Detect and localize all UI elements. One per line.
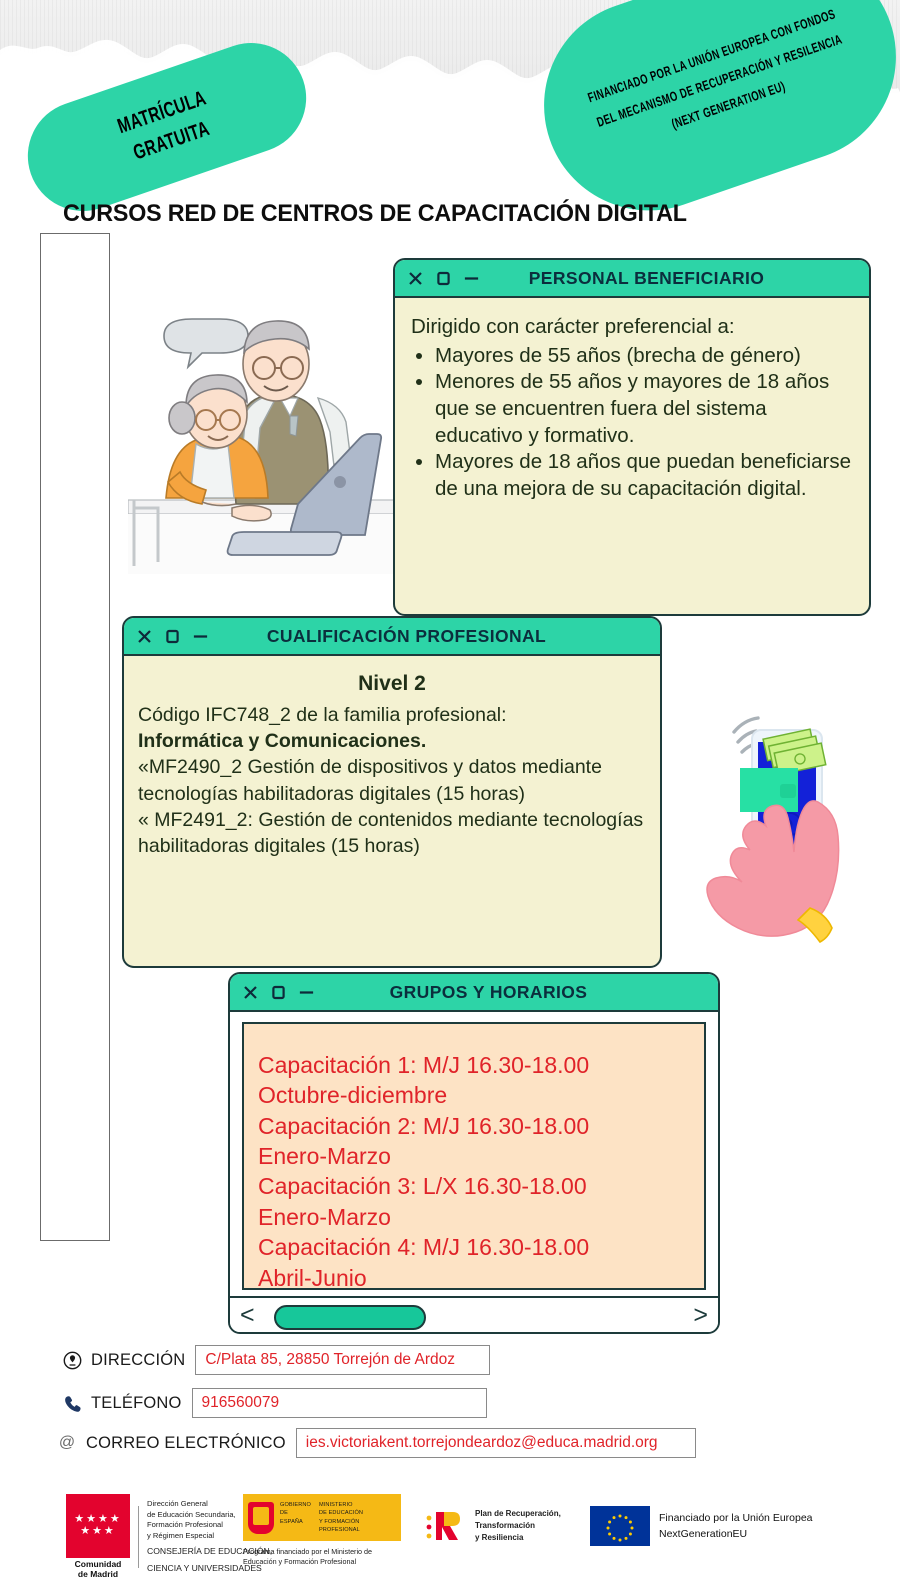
madrid-stars-icon: ★★★★★★★ <box>66 1494 130 1558</box>
window-personal-beneficiario: PERSONAL BENEFICIARIO Dirigido con carác… <box>393 258 871 616</box>
schedule-line: Enero-Marzo <box>258 1202 690 1232</box>
window-content: Dirigido con carácter preferencial a: Ma… <box>395 298 869 512</box>
schedule-line: Enero-Marzo <box>258 1141 690 1171</box>
logo-comunidad-de-madrid: ★★★★★★★ Comunidad de Madrid Dirección Ge… <box>66 1494 272 1580</box>
beneficiario-lead: Dirigido con carácter preferencial a: <box>411 314 855 341</box>
contact-row-telefono: TELÉFONO 916560079 <box>60 1388 487 1418</box>
prtr-line-1: Plan de Recuperación, <box>475 1508 561 1520</box>
window-controls <box>136 628 209 645</box>
schedule-line: Octubre-diciembre <box>258 1080 690 1110</box>
window-controls <box>242 984 315 1001</box>
window-content: Capacitación 1: M/J 16.30-18.00 Octubre-… <box>230 1012 718 1290</box>
contact-row-direccion: DIRECCIÓN C/Plata 85, 28850 Torrejón de … <box>60 1345 490 1375</box>
window-titlebar: CUALIFICACIÓN PROFESIONAL <box>124 618 660 656</box>
window-grupos-horarios: GRUPOS Y HORARIOS Capacitación 1: M/J 16… <box>228 972 720 1334</box>
gobierno-text-columns: GOBIERNO DE ESPAÑA MINISTERIO DE EDUCACI… <box>280 1501 396 1533</box>
cualificacion-nivel: Nivel 2 <box>138 670 646 698</box>
page-title: CURSOS RED DE CENTROS DE CAPACITACIÓN DI… <box>63 200 785 228</box>
contact-label-email: CORREO ELECTRÓNICO <box>86 1434 286 1453</box>
prtr-line-3: y Resiliencia <box>475 1532 561 1544</box>
ministerio-line-2: DE EDUCACIÓN <box>319 1509 396 1517</box>
logo-plan-recuperacion: Plan de Recuperación, Transformación y R… <box>424 1508 561 1544</box>
contact-value-telefono: 916560079 <box>192 1388 487 1418</box>
logo-union-europea: Financiado por la Unión Europea NextGene… <box>590 1506 813 1546</box>
prtr-mark-icon <box>424 1509 468 1543</box>
hand-phone-wallet-illustration <box>672 672 890 972</box>
cualificacion-codigo: Código IFC748_2 de la familia profesiona… <box>138 702 646 728</box>
maximize-icon[interactable] <box>270 984 287 1001</box>
minimize-icon[interactable] <box>298 984 315 1001</box>
contact-row-email: @ CORREO ELECTRÓNICO ies.victoriakent.to… <box>55 1428 696 1458</box>
scroll-left-arrow[interactable]: < <box>240 1303 255 1328</box>
grupos-schedule-pane: Capacitación 1: M/J 16.30-18.00 Octubre-… <box>242 1022 706 1290</box>
schedule-line: Capacitación 3: L/X 16.30-18.00 <box>258 1171 690 1201</box>
contact-value-email: ies.victoriakent.torrejondeardoz@educa.m… <box>296 1428 696 1458</box>
minimize-icon[interactable] <box>463 270 480 287</box>
scrollbar-thumb[interactable] <box>274 1305 426 1330</box>
schedule-line: Capacitación 2: M/J 16.30-18.00 <box>258 1111 690 1141</box>
footer-logos: ★★★★★★★ Comunidad de Madrid Dirección Ge… <box>0 1482 900 1585</box>
list-item: Mayores de 55 años (brecha de género) <box>435 343 855 370</box>
madrid-emblem: ★★★★★★★ Comunidad de Madrid <box>66 1494 130 1580</box>
contact-value-direccion: C/Plata 85, 28850 Torrejón de Ardoz <box>195 1345 490 1375</box>
cualificacion-modulo: « MF2491_2: Gestión de contenidos median… <box>138 807 646 859</box>
madrid-flag-icon: ★★★★★★★ <box>66 1494 130 1558</box>
contact-label-telefono: TELÉFONO <box>91 1394 182 1413</box>
maximize-icon[interactable] <box>435 270 452 287</box>
gobierno-caption: Programa financiado por el Ministerio de… <box>243 1547 411 1567</box>
gobierno-bar: GOBIERNO DE ESPAÑA MINISTERIO DE EDUCACI… <box>243 1494 401 1541</box>
poster-root: MATRÍCULA GRATUITA FINANCIADO POR LA UNI… <box>0 0 900 1585</box>
beneficiario-list: Mayores de 55 años (brecha de género) Me… <box>409 343 855 503</box>
window-controls <box>407 270 480 287</box>
gobierno-text: GOBIERNO DE ESPAÑA <box>280 1501 311 1533</box>
madrid-brand: Comunidad de Madrid <box>75 1560 122 1580</box>
window-title: GRUPOS Y HORARIOS <box>315 982 706 1003</box>
schedule-line: Capacitación 1: M/J 16.30-18.00 <box>258 1050 690 1080</box>
window-title: PERSONAL BENEFICIARIO <box>480 268 857 289</box>
spain-coat-of-arms-icon <box>248 1502 274 1534</box>
scroll-right-arrow[interactable]: > <box>693 1303 708 1328</box>
schedule-line: Abril-Junio <box>258 1263 690 1293</box>
window-cualificacion-profesional: CUALIFICACIÓN PROFESIONAL Nivel 2 Código… <box>122 616 662 968</box>
minimize-icon[interactable] <box>192 628 209 645</box>
eu-line-2: NextGenerationEU <box>659 1526 813 1542</box>
ministerio-line-1: MINISTERIO <box>319 1501 396 1509</box>
elderly-couple-laptop-illustration <box>128 286 413 608</box>
cualificacion-familia: Informática y Comunicaciones. <box>138 728 646 754</box>
window-content: Nivel 2 Código IFC748_2 de la familia pr… <box>124 656 660 869</box>
window-titlebar: PERSONAL BENEFICIARIO <box>395 260 869 298</box>
cualificacion-modulo: «MF2490_2 Gestión de dispositivos y dato… <box>138 754 646 806</box>
ministerio-line-3: Y FORMACIÓN PROFESIONAL <box>319 1518 396 1534</box>
window-titlebar: GRUPOS Y HORARIOS <box>230 974 718 1012</box>
close-icon[interactable] <box>136 628 153 645</box>
contact-label-direccion: DIRECCIÓN <box>91 1351 185 1370</box>
eu-flag-icon <box>590 1506 650 1546</box>
school-name-box <box>40 233 110 1241</box>
gobierno-caption-line-2: Educación y Formación Profesional <box>243 1557 411 1567</box>
madrid-brand-line-2: de Madrid <box>75 1570 122 1580</box>
window-title: CUALIFICACIÓN PROFESIONAL <box>209 626 648 647</box>
list-item: Menores de 55 años y mayores de 18 años … <box>435 369 855 449</box>
ministerio-text: MINISTERIO DE EDUCACIÓN Y FORMACIÓN PROF… <box>319 1501 396 1533</box>
schedule-line: Capacitación 4: M/J 16.30-18.00 <box>258 1232 690 1262</box>
close-icon[interactable] <box>407 270 424 287</box>
eu-text: Financiado por la Unión Europea NextGene… <box>659 1510 813 1543</box>
at-sign-icon: @ <box>55 1434 79 1452</box>
phone-icon <box>60 1394 84 1413</box>
logo-divider <box>138 1506 139 1568</box>
logo-gobierno-de-espana: GOBIERNO DE ESPAÑA MINISTERIO DE EDUCACI… <box>243 1494 411 1567</box>
horizontal-scrollbar[interactable]: < > <box>230 1296 718 1332</box>
gobierno-caption-line-1: Programa financiado por el Ministerio de <box>243 1547 411 1557</box>
maximize-icon[interactable] <box>164 628 181 645</box>
gobierno-line-1: GOBIERNO <box>280 1501 311 1509</box>
list-item: Mayores de 18 años que puedan beneficiar… <box>435 449 855 502</box>
close-icon[interactable] <box>242 984 259 1001</box>
prtr-text: Plan de Recuperación, Transformación y R… <box>475 1508 561 1544</box>
eu-line-1: Financiado por la Unión Europea <box>659 1510 813 1526</box>
gobierno-line-2: DE ESPAÑA <box>280 1509 311 1525</box>
location-pin-icon <box>60 1351 84 1370</box>
prtr-line-2: Transformación <box>475 1520 561 1532</box>
